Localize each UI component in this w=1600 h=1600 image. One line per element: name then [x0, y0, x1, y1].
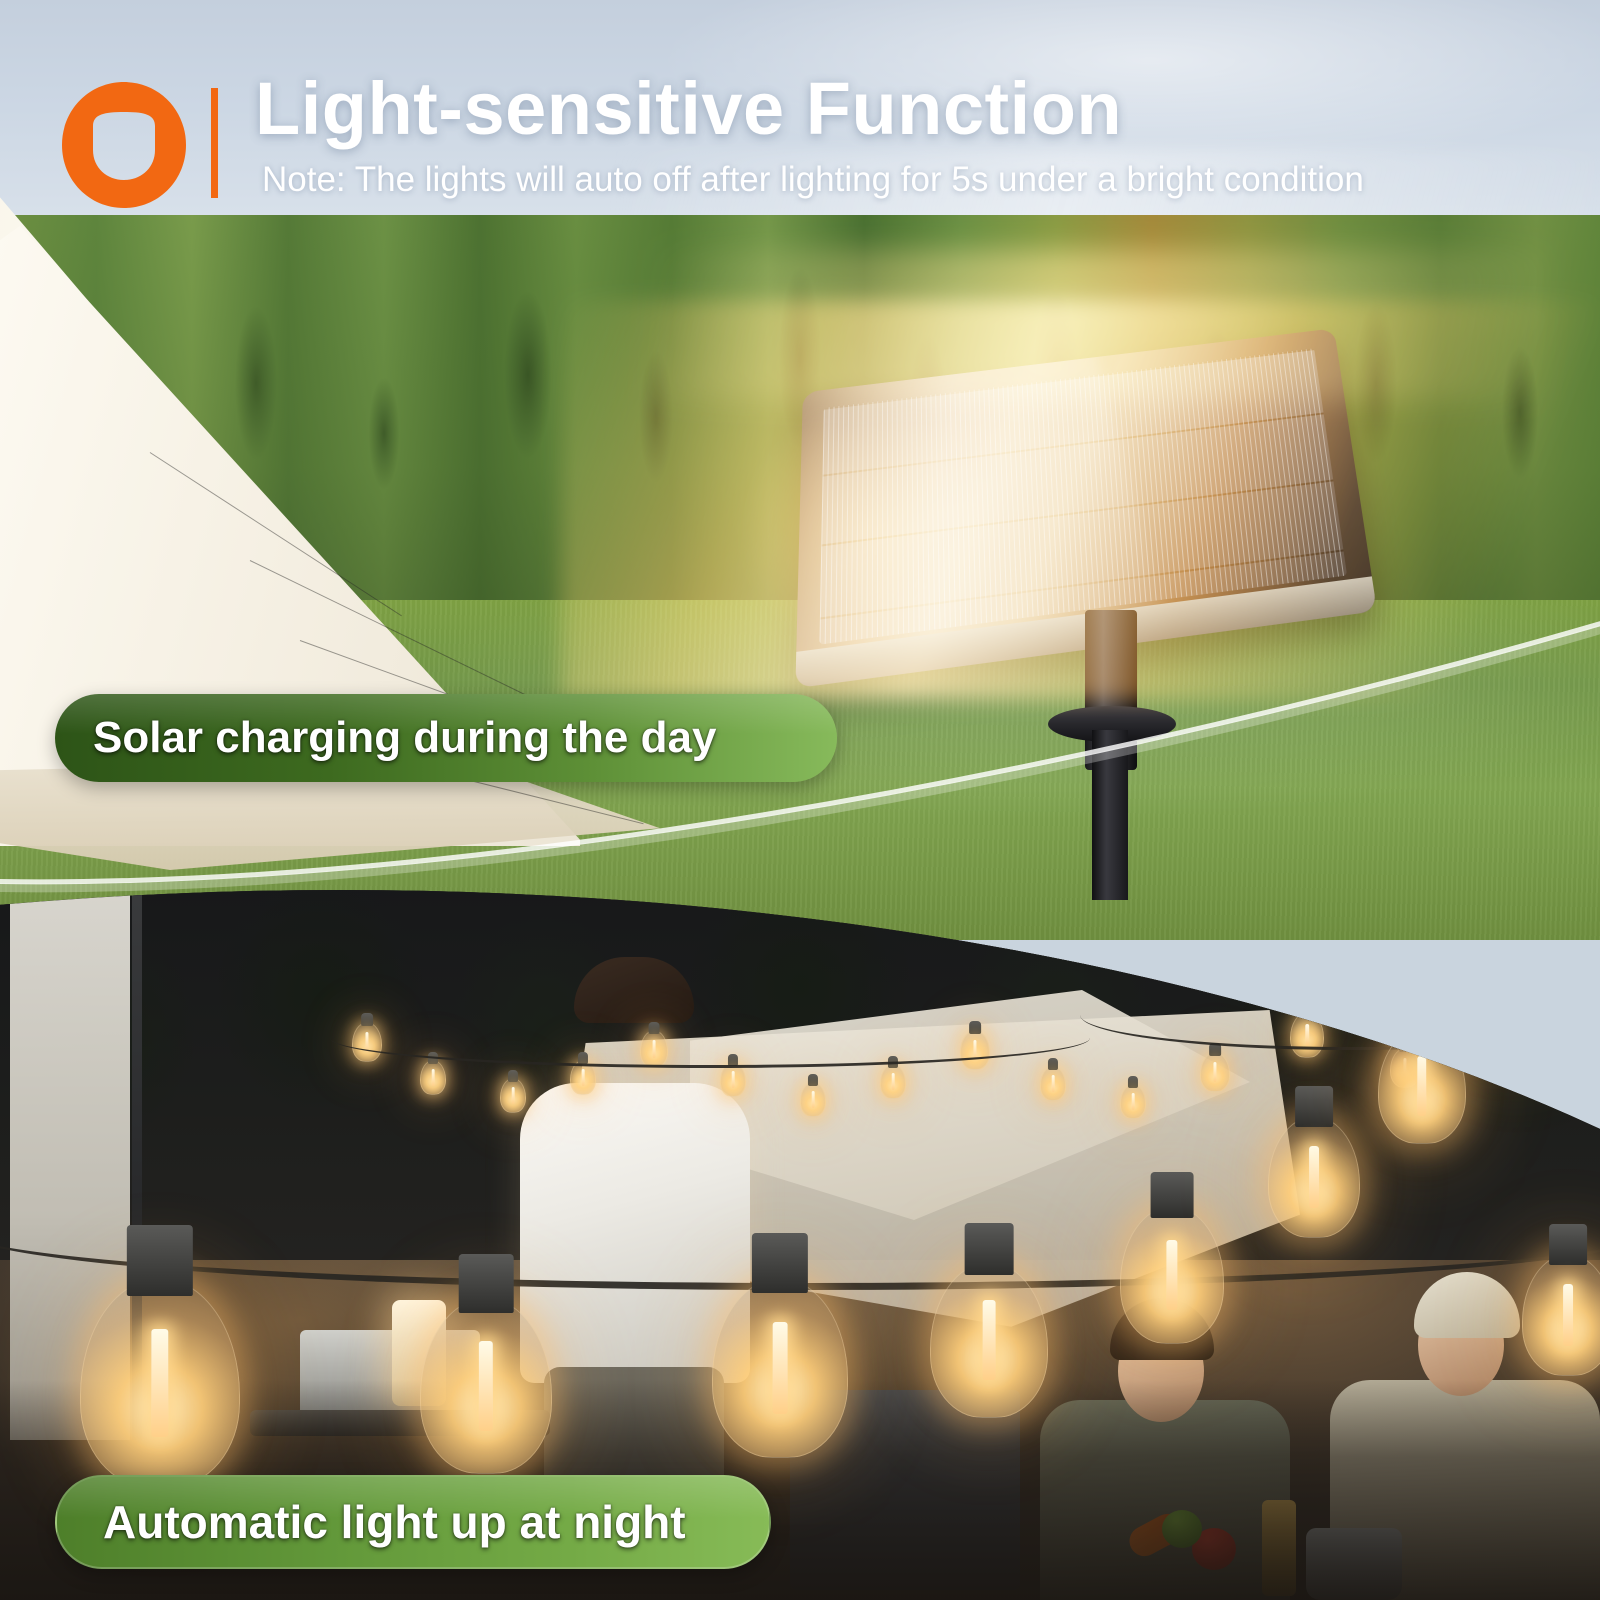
light-bulb [800, 1082, 826, 1117]
badge-solar-charging: Solar charging during the day [55, 694, 837, 782]
orange-ring-logo-icon [60, 80, 188, 210]
badge-automatic-light: Automatic light up at night [55, 1475, 771, 1569]
page-title: Light-sensitive Function [255, 66, 1122, 151]
light-bulb [1200, 1052, 1230, 1092]
hair [1414, 1272, 1520, 1338]
page-subtitle: Note: The lights will auto off after lig… [262, 160, 1364, 200]
poster-header: Light-sensitive Function Note: The light… [0, 0, 1600, 230]
header-divider-rule [211, 88, 218, 198]
light-bulb [500, 1078, 526, 1113]
light-bulb [1120, 1084, 1146, 1119]
light-bulb [1040, 1066, 1066, 1101]
sun-flare-secondary [650, 250, 1550, 400]
light-bulb [880, 1064, 906, 1099]
sun-glow [740, 400, 1000, 660]
ground-stake [1092, 730, 1128, 900]
light-bulb [420, 1060, 446, 1095]
badge-day-label: Solar charging during the day [93, 713, 716, 763]
string-light-wire [330, 1008, 1090, 1068]
product-feature-poster: Light-sensitive Function Note: The light… [0, 0, 1600, 1600]
badge-night-label: Automatic light up at night [103, 1495, 686, 1549]
